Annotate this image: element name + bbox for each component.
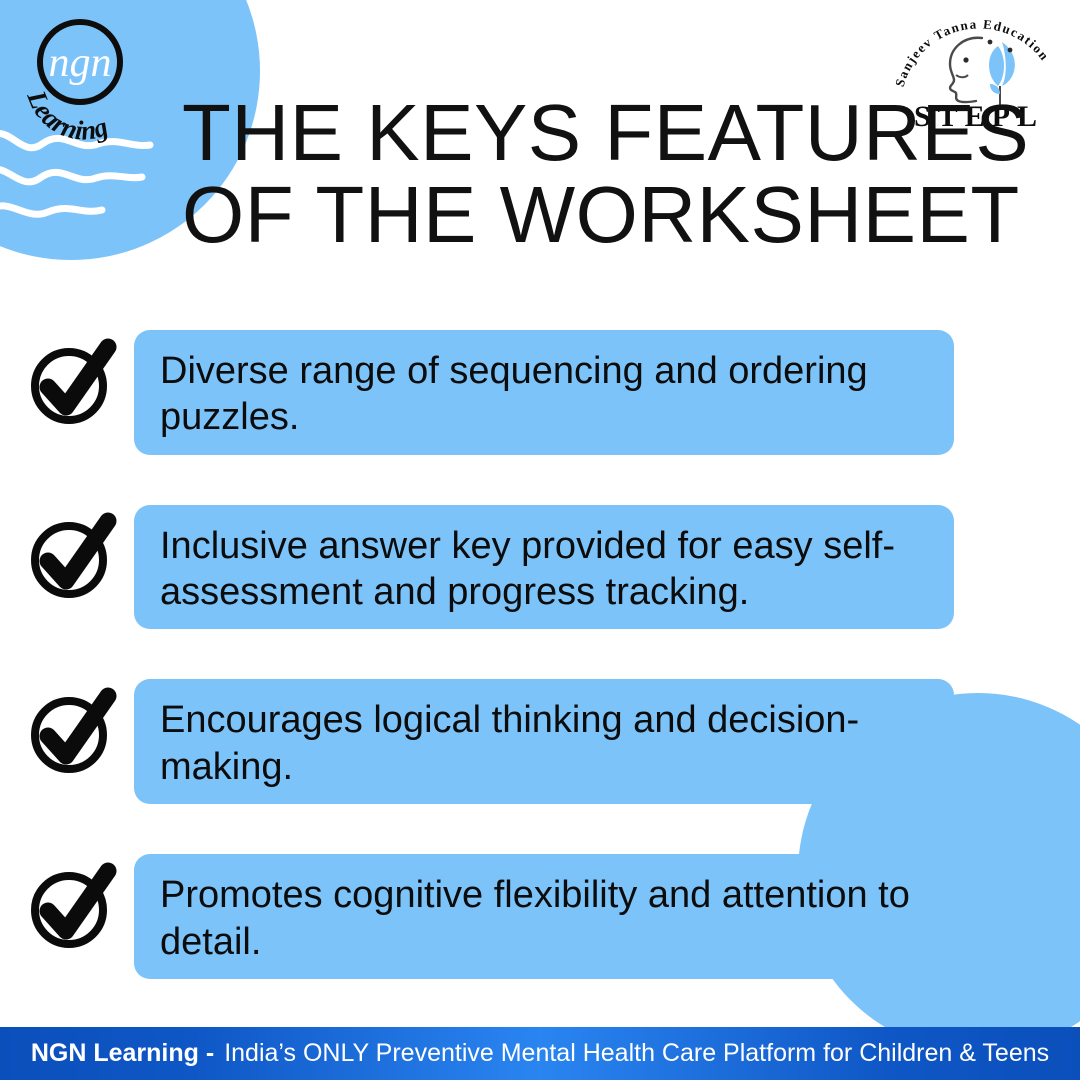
check-circle-icon: [22, 679, 122, 784]
feature-card: Diverse range of sequencing and ordering…: [134, 330, 954, 455]
ngn-learning-logo: ngn Learning: [18, 10, 158, 150]
list-item: Inclusive answer key provided for easy s…: [0, 505, 1080, 630]
feature-list: Diverse range of sequencing and ordering…: [0, 330, 1080, 1029]
svg-text:ngn: ngn: [49, 40, 112, 86]
list-item: Promotes cognitive flexibility and atten…: [0, 854, 1080, 979]
page-title: THE KEYS FEATURES OF THE WORKSHEET: [182, 92, 942, 257]
feature-card: Inclusive answer key provided for easy s…: [134, 505, 954, 630]
footer-banner: NGN Learning - India’s ONLY Preventive M…: [0, 1027, 1080, 1080]
feature-text: Inclusive answer key provided for easy s…: [160, 523, 930, 616]
list-item: Diverse range of sequencing and ordering…: [0, 330, 1080, 455]
feature-card: Encourages logical thinking and decision…: [134, 679, 954, 804]
page-title-line-2: OF THE WORKSHEET: [182, 174, 942, 256]
list-item: Encourages logical thinking and decision…: [0, 679, 1080, 804]
feature-card: Promotes cognitive flexibility and atten…: [134, 854, 954, 979]
check-circle-icon: [22, 330, 122, 435]
feature-text: Encourages logical thinking and decision…: [160, 697, 930, 790]
page-title-line-1: THE KEYS FEATURES: [182, 92, 942, 174]
feature-text: Diverse range of sequencing and ordering…: [160, 348, 930, 441]
svg-text:Sanjeev Tanna Education: Sanjeev Tanna Education: [892, 16, 1053, 88]
feature-text: Promotes cognitive flexibility and atten…: [160, 872, 930, 965]
check-circle-icon: [22, 854, 122, 959]
poster-canvas: ngn Learning Sanjeev Tanna Education STE…: [0, 0, 1080, 1080]
footer-tagline: India’s ONLY Preventive Mental Health Ca…: [224, 1039, 1049, 1068]
footer-brand: NGN Learning -: [31, 1039, 214, 1068]
footer-content: NGN Learning - India’s ONLY Preventive M…: [31, 1039, 1049, 1068]
check-circle-icon: [22, 505, 122, 610]
